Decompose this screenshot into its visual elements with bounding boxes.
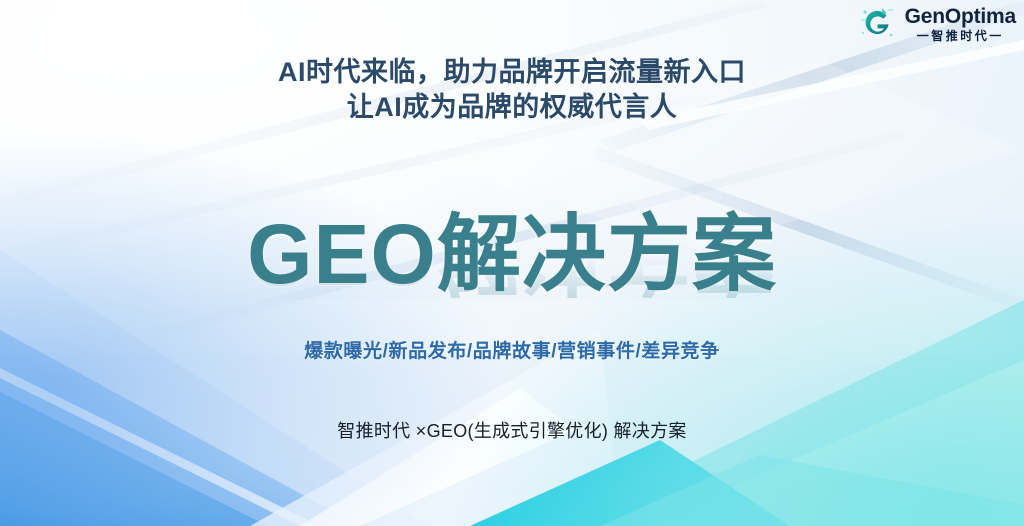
subtitle: 爆款曝光/新品发布/品牌故事/营销事件/差异竞争 (0, 336, 1024, 363)
logo-text-block: GenOptima 一智推时代一 (905, 6, 1016, 42)
slide-canvas: GenOptima 一智推时代一 AI时代来临，助力品牌开启流量新入口 让AI成… (0, 0, 1024, 526)
logo-name: GenOptima (905, 6, 1016, 27)
logo-tagline: 一智推时代一 (917, 30, 1004, 42)
footer-caption: 智推时代 ×GEO(生成式引擎优化) 解决方案 (0, 417, 1024, 443)
geno-g-logo-icon (855, 2, 899, 46)
headline-line-1: AI时代来临，助力品牌开启流量新入口 (278, 57, 746, 87)
main-title-block: GEO解决方案 GEO解决方案 (0, 212, 1024, 340)
main-title-reflection: GEO解决方案 (0, 256, 1024, 298)
headline: AI时代来临，助力品牌开启流量新入口 让AI成为品牌的权威代言人 (0, 55, 1024, 124)
brand-logo[interactable]: GenOptima 一智推时代一 (855, 2, 1016, 46)
headline-line-2: 让AI成为品牌的权威代言人 (0, 90, 1024, 125)
